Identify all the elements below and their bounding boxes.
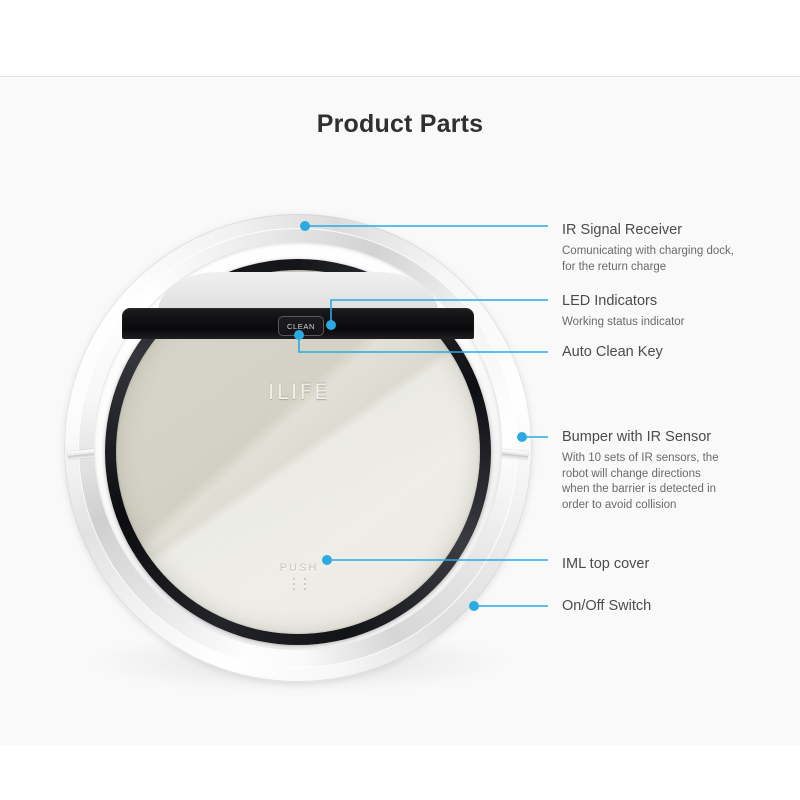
callout-iml-top-cover: IML top cover: [562, 555, 794, 574]
callout-labels: IR Signal Receiver Comunicating with cha…: [0, 0, 800, 800]
callout-title: Auto Clean Key: [562, 343, 794, 362]
product-parts-page: Product Parts CLEAN ILIFE PUSH: [0, 0, 800, 800]
callout-auto-clean-key: Auto Clean Key: [562, 343, 794, 362]
callout-description: Working status indicator: [562, 315, 794, 331]
callout-description: With 10 sets of IR sensors, the robot wi…: [562, 451, 794, 513]
callout-description: Comunicating with charging dock, for the…: [562, 244, 794, 275]
callout-led-indicators: LED Indicators Working status indicator: [562, 292, 794, 331]
callout-title: On/Off Switch: [562, 597, 794, 616]
callout-title: Bumper with IR Sensor: [562, 428, 794, 447]
callout-on-off-switch: On/Off Switch: [562, 597, 794, 616]
callout-title: IML top cover: [562, 555, 794, 574]
callout-title: LED Indicators: [562, 292, 794, 311]
callout-title: IR Signal Receiver: [562, 221, 794, 240]
callout-ir-signal-receiver: IR Signal Receiver Comunicating with cha…: [562, 221, 794, 275]
callout-bumper-with-ir-sensor: Bumper with IR Sensor With 10 sets of IR…: [562, 428, 794, 513]
